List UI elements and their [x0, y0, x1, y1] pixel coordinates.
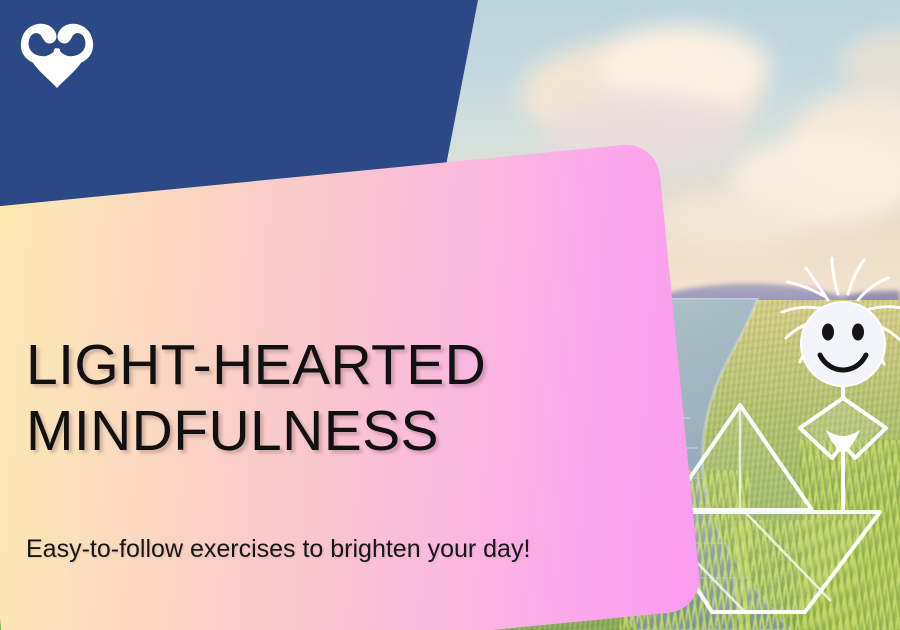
page-title: LIGHT-HEARTED MINDFULNESS — [26, 332, 586, 464]
subtitle: Easy-to-follow exercises to brighten you… — [26, 533, 626, 566]
grass-tuft — [735, 520, 855, 630]
poster-canvas: LIGHT-HEARTED MINDFULNESS Easy-to-follow… — [0, 0, 900, 630]
cloud — [660, 190, 810, 250]
card-content: LIGHT-HEARTED MINDFULNESS Easy-to-follow… — [0, 0, 660, 630]
